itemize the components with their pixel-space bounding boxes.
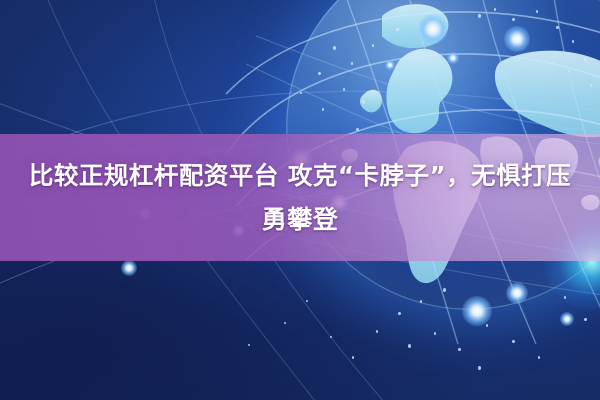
caption-text-block: 比较正规杠杆配资平台 攻克“卡脖子”，无惧打压 勇攀登 bbox=[0, 134, 600, 261]
banner-image: 比较正规杠杆配资平台 攻克“卡脖子”，无惧打压 勇攀登 bbox=[0, 0, 600, 400]
headline-line-1: 比较正规杠杆配资平台 攻克“卡脖子”，无惧打压 bbox=[29, 156, 571, 196]
headline-line-2: 勇攀登 bbox=[262, 200, 339, 240]
